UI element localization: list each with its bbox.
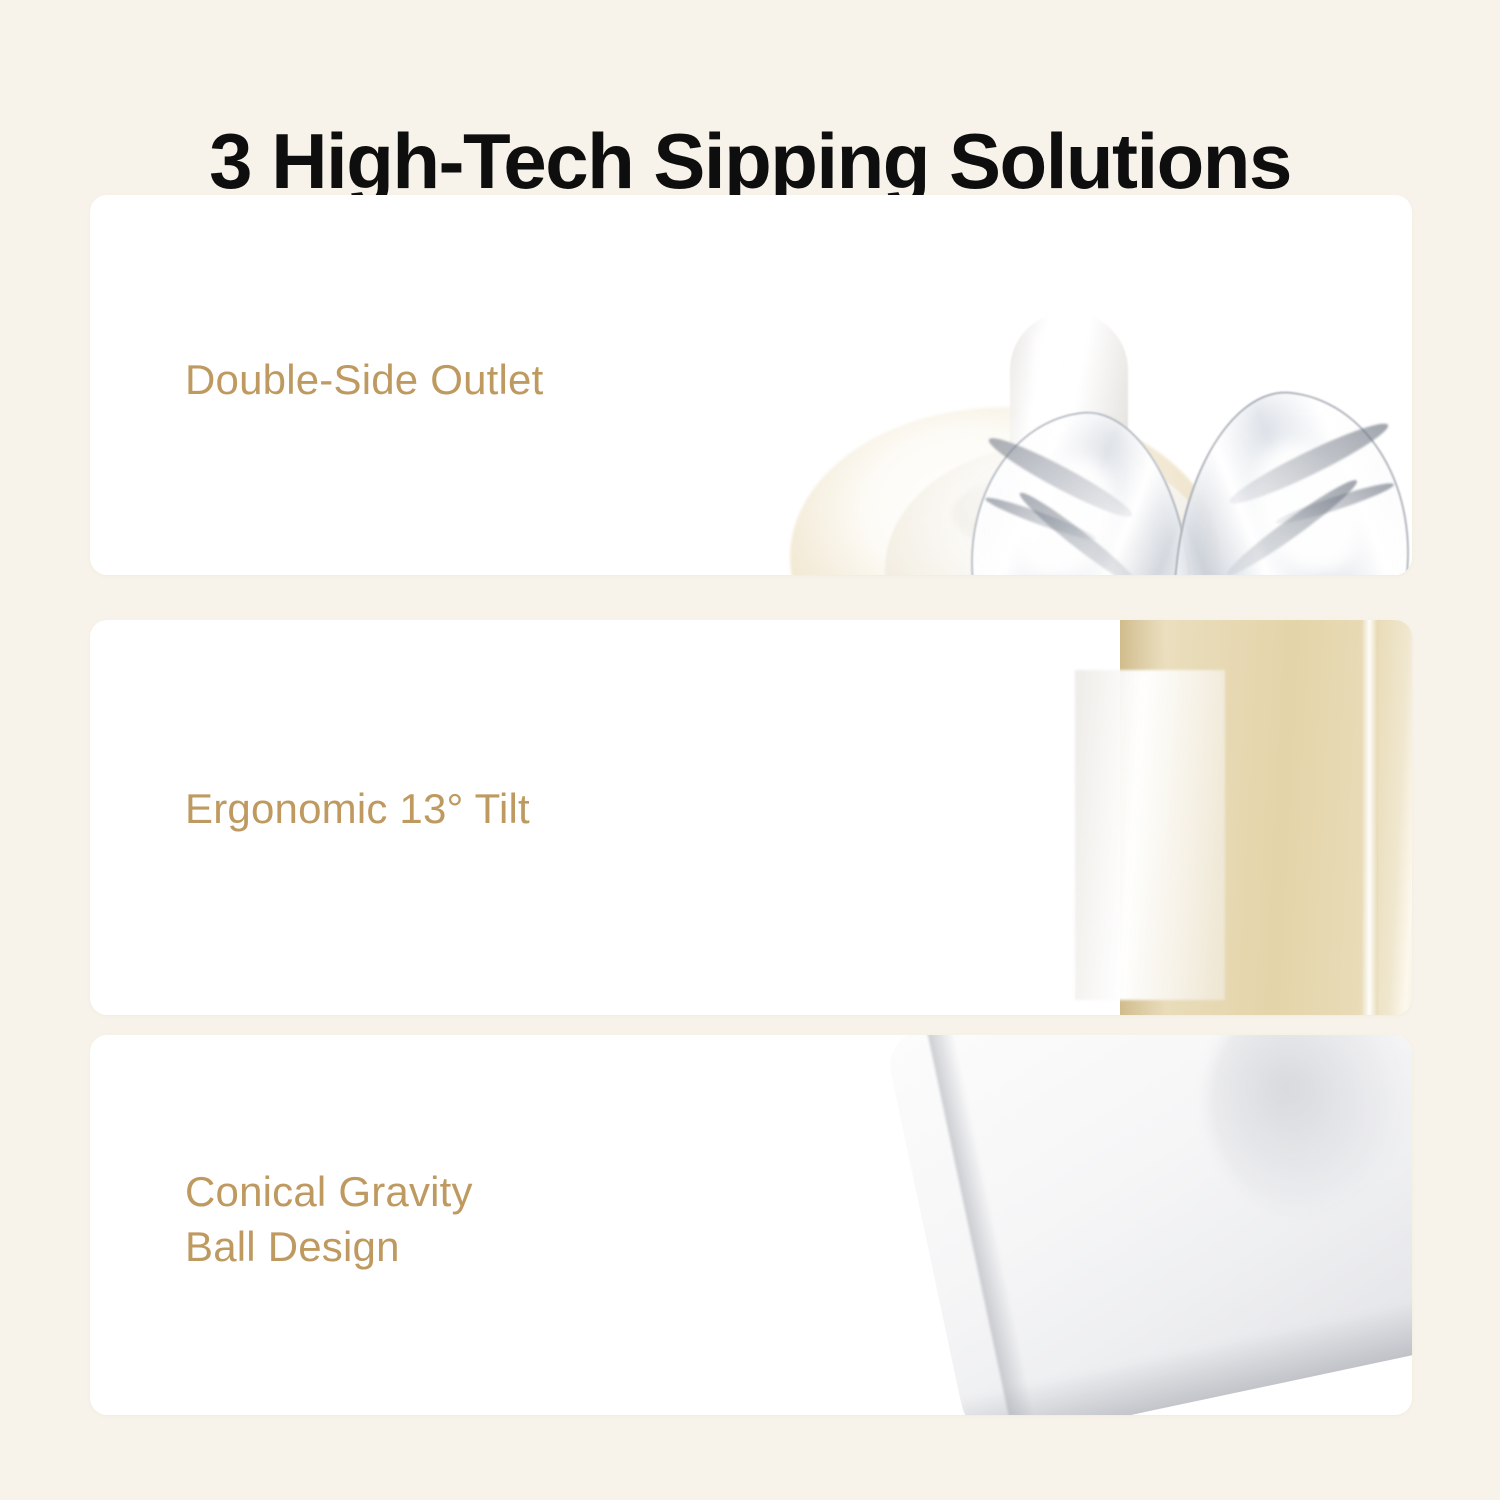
- feature-label-double-side-outlet: Double-Side Outlet: [185, 353, 543, 408]
- feature-label-ergonomic-tilt: Ergonomic 13° Tilt: [185, 782, 530, 837]
- product-feature-infographic: 3 High-Tech Sipping Solutions Double-Sid…: [0, 0, 1500, 1500]
- bottle-neck-shape: [1075, 670, 1225, 1000]
- feature-card-double-side-outlet: Double-Side Outlet: [90, 195, 1412, 575]
- feature-label-conical-gravity-ball: Conical Gravity Ball Design: [185, 1165, 473, 1274]
- water-stream-right: [1162, 382, 1412, 575]
- feature-card-ergonomic-tilt: 13° Ergonomic 13° Tilt: [90, 620, 1412, 1015]
- water-stream-left: [955, 402, 1202, 575]
- bottle-body-transparent-shape: [884, 1035, 1412, 1415]
- feature-card-conical-gravity-ball: 30 mL 60 90 Conical Gravity Ball Design: [90, 1035, 1412, 1415]
- page-title: 3 High-Tech Sipping Solutions: [0, 118, 1500, 205]
